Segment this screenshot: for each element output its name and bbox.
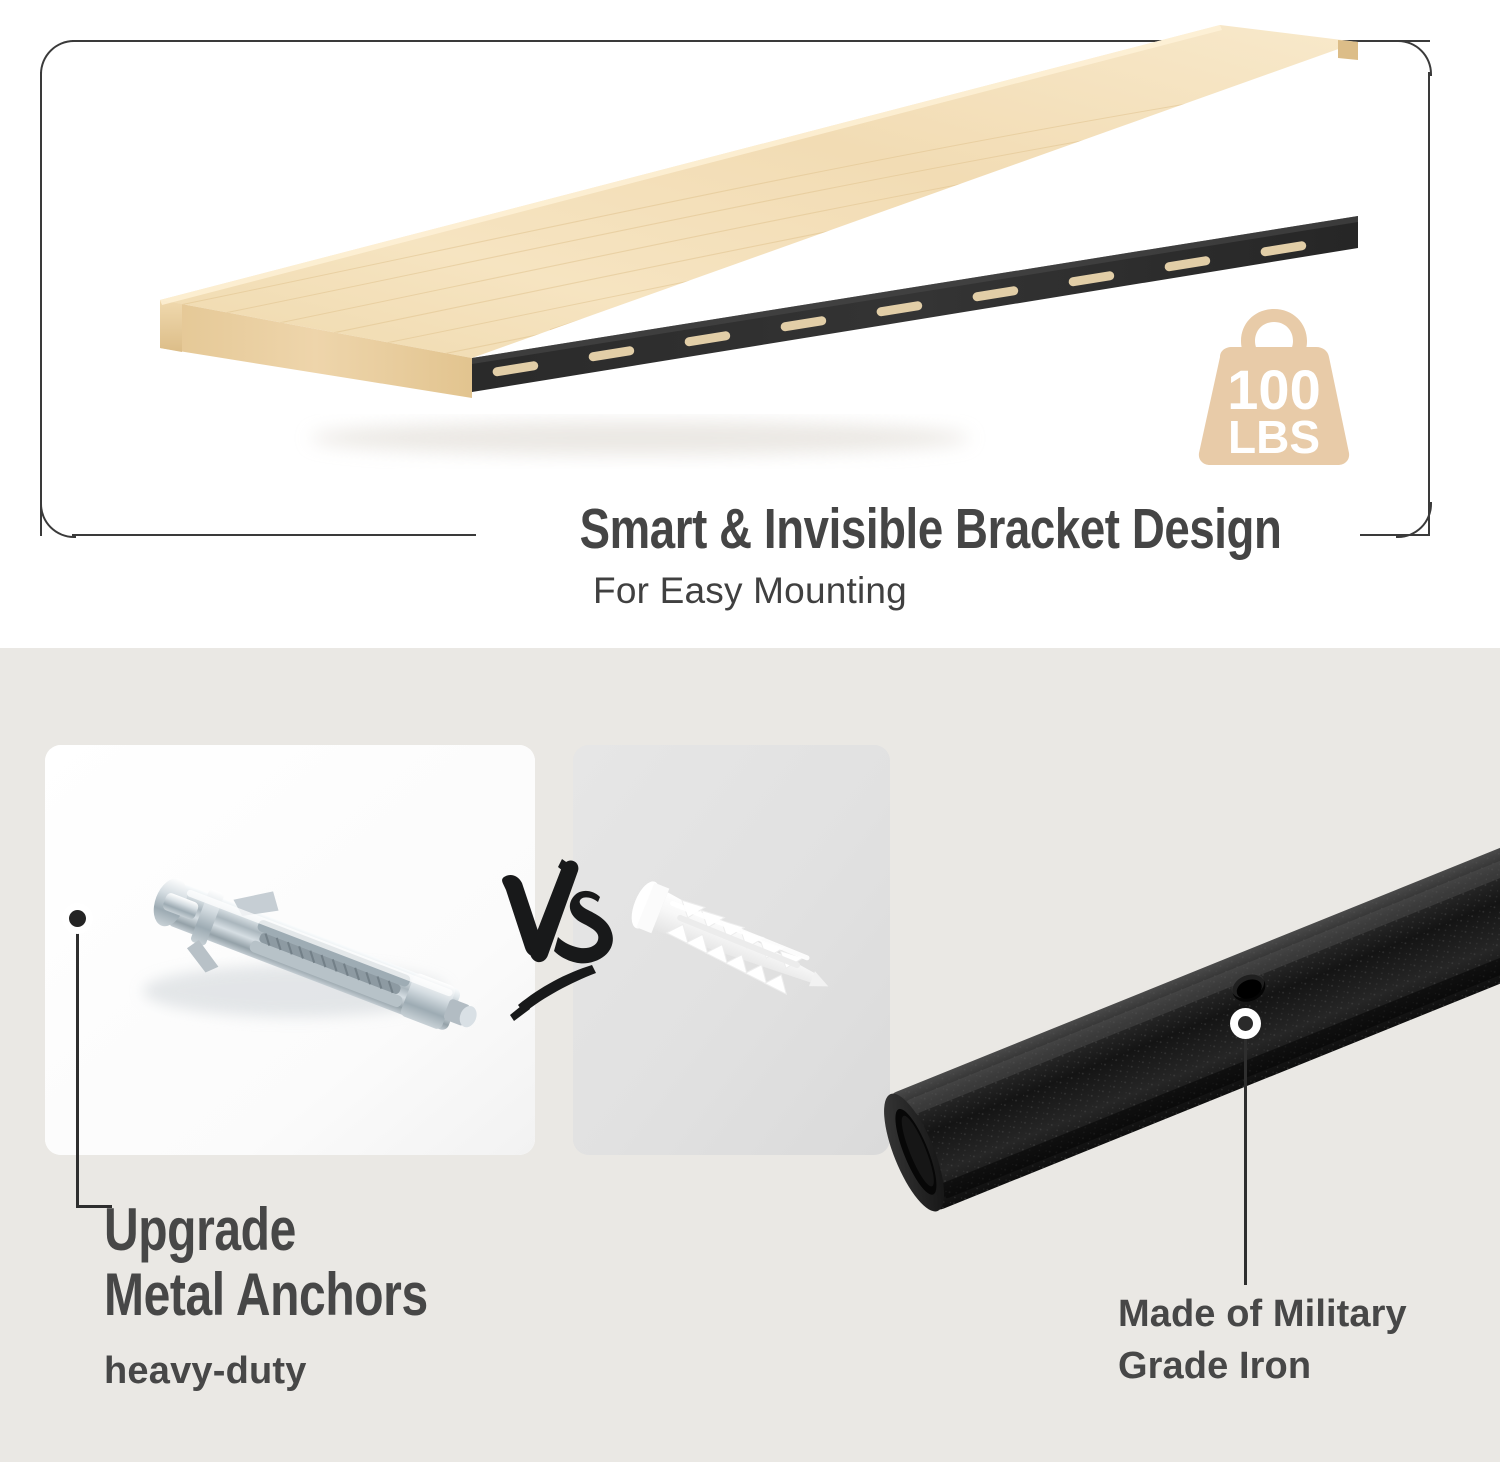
frame-left-edge: [40, 72, 42, 536]
frame-corner-bottom-left: [40, 502, 76, 538]
metal-anchor-panel: [45, 745, 535, 1155]
vs-icon: VS: [496, 855, 626, 1025]
anchors-heading-line1: Upgrade: [104, 1198, 600, 1263]
iron-caption-line2: Grade Iron: [1118, 1340, 1478, 1392]
frame-corner-top-left: [40, 40, 76, 76]
frame-corner-top-right: [1396, 40, 1432, 76]
callout-line-vertical-left: [76, 918, 79, 1208]
iron-caption-block: Made of Military Grade Iron: [1118, 1288, 1478, 1393]
hero-section: 100 LBS Smart & Invisible Bracket Design…: [0, 0, 1500, 648]
product-feature-graphic: 100 LBS Smart & Invisible Bracket Design…: [0, 0, 1500, 1462]
callout-ring-right: [1230, 1008, 1261, 1039]
iron-caption-line1: Made of Military: [1118, 1288, 1478, 1340]
callout-line-vertical-right: [1244, 1030, 1247, 1285]
hero-title: Smart & Invisible Bracket Design: [580, 499, 1281, 561]
hero-subtitle: For Easy Mounting: [0, 570, 1500, 612]
anchors-heading-line2: Metal Anchors: [104, 1263, 600, 1328]
frame-corner-bottom-right: [1396, 502, 1432, 538]
weight-capacity-badge: 100 LBS: [1186, 303, 1362, 473]
frame-right-edge: [1428, 72, 1430, 536]
metal-anchors-text-block: Upgrade Metal Anchors heavy-duty: [104, 1198, 724, 1393]
callout-dot-left: [62, 903, 93, 934]
anchors-subtext: heavy-duty: [104, 1350, 724, 1393]
iron-pipe-photo: [860, 740, 1500, 1300]
frame-bottom-right-edge: [1360, 534, 1430, 536]
badge-weight-unit: LBS: [1228, 411, 1320, 463]
frame-bottom-left-edge: [72, 534, 476, 536]
